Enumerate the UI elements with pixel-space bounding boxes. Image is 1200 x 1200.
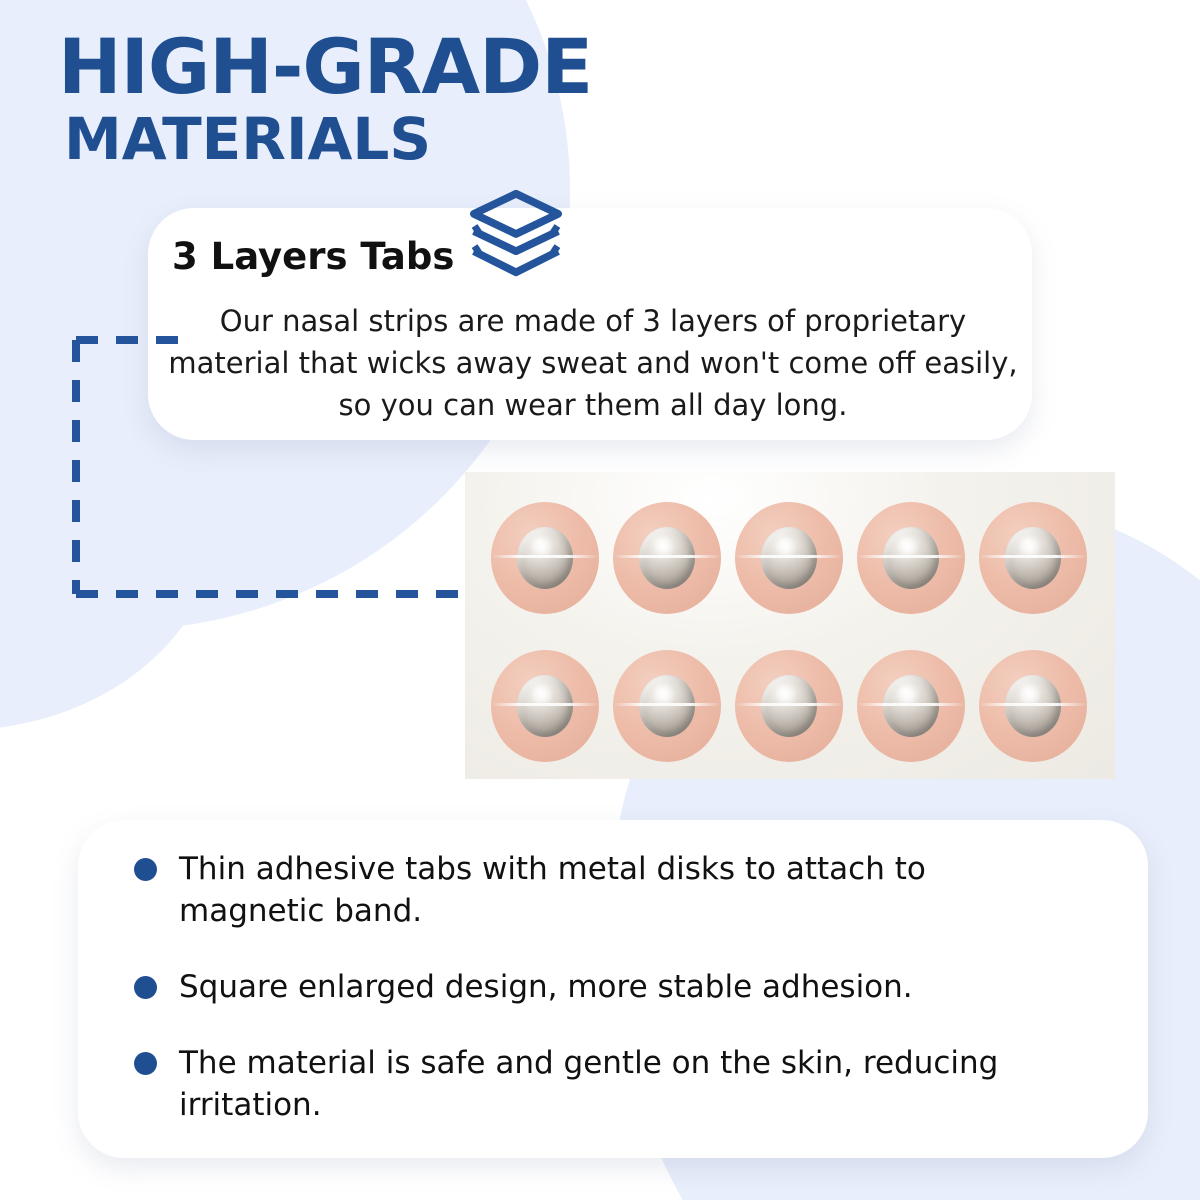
adhesive-tab [735, 502, 843, 614]
list-item: Thin adhesive tabs with metal disks to a… [134, 848, 1034, 932]
adhesive-tab [735, 650, 843, 762]
adhesive-tab [613, 502, 721, 614]
feature-description: Our nasal strips are made of 3 layers of… [168, 300, 1018, 426]
bullet-dot-icon [134, 858, 157, 881]
adhesive-tab [613, 650, 721, 762]
bullet-text: Square enlarged design, more stable adhe… [179, 966, 913, 1008]
bullet-text: The material is safe and gentle on the s… [179, 1042, 999, 1126]
bullet-dot-icon [134, 976, 157, 999]
metal-disk [883, 527, 939, 589]
list-item: Square enlarged design, more stable adhe… [134, 966, 1034, 1008]
adhesive-tab [979, 650, 1087, 762]
headline-line-2: MATERIALS [64, 108, 592, 170]
list-item: The material is safe and gentle on the s… [134, 1042, 1034, 1126]
metal-disk [1005, 675, 1061, 737]
metal-disk [517, 675, 573, 737]
adhesive-tab [979, 502, 1087, 614]
metal-disk [639, 675, 695, 737]
metal-disk [639, 527, 695, 589]
infographic-canvas: HIGH-GRADE MATERIALS 3 Layers Tabs Our n… [0, 0, 1200, 1200]
adhesive-tab [857, 650, 965, 762]
page-title: HIGH-GRADE MATERIALS [58, 26, 592, 170]
adhesive-tab [857, 502, 965, 614]
metal-disk [761, 675, 817, 737]
metal-disk [761, 527, 817, 589]
feature-title: 3 Layers Tabs [172, 235, 454, 278]
product-photo [465, 472, 1115, 779]
metal-disk [517, 527, 573, 589]
layers-icon [468, 188, 564, 280]
feature-heading-group: 3 Layers Tabs [172, 232, 564, 280]
bullet-dot-icon [134, 1052, 157, 1075]
adhesive-tab [491, 650, 599, 762]
bullet-text: Thin adhesive tabs with metal disks to a… [179, 848, 999, 932]
headline-line-1: HIGH-GRADE [58, 26, 592, 108]
metal-disk [1005, 527, 1061, 589]
metal-disk [883, 675, 939, 737]
adhesive-tab [491, 502, 599, 614]
benefits-list: Thin adhesive tabs with metal disks to a… [134, 848, 1034, 1160]
